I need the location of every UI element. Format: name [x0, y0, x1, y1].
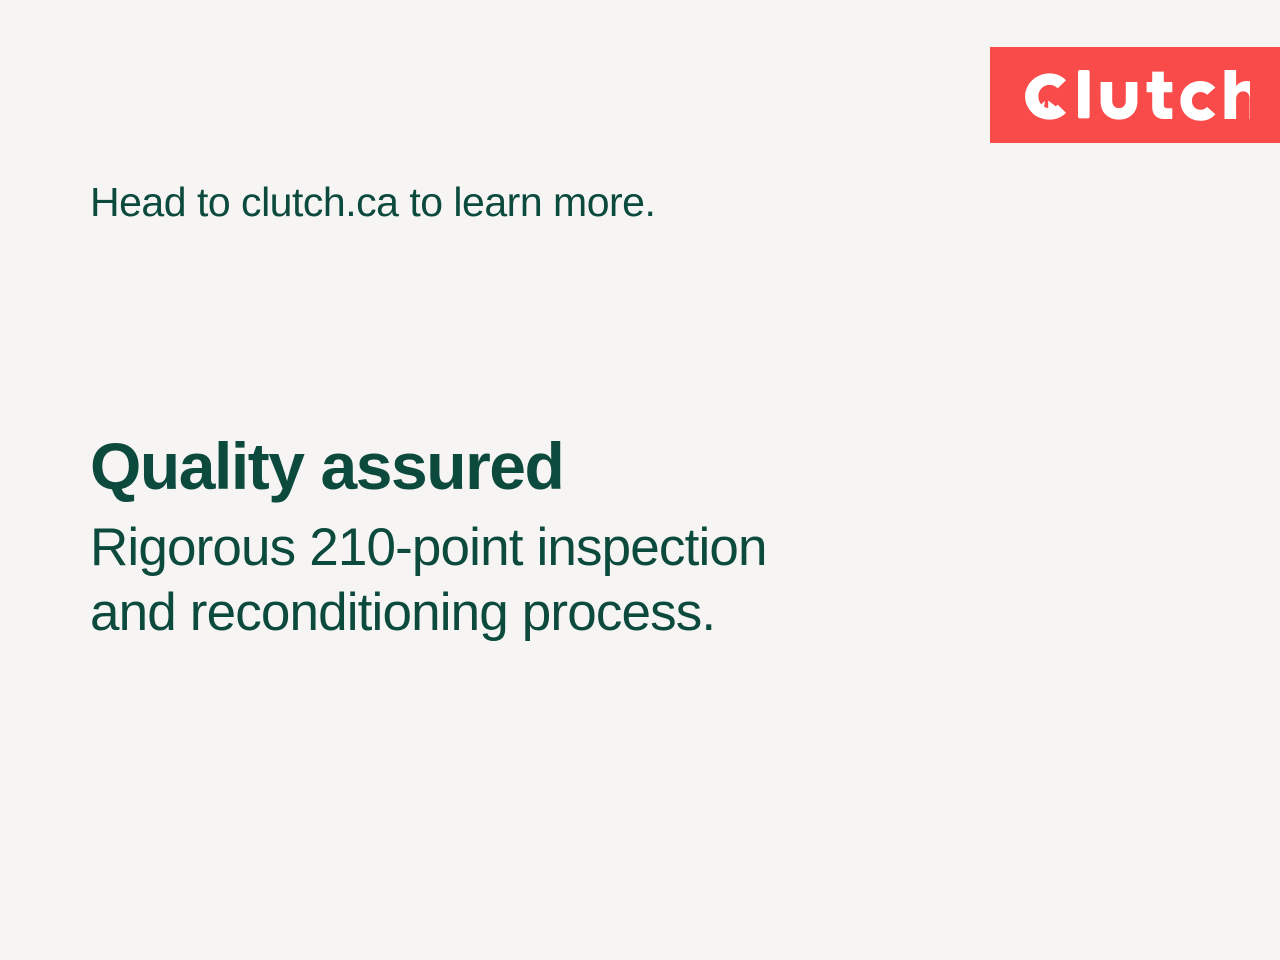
subhead-line-2: and reconditioning process. — [90, 581, 1050, 646]
promo-slide: Head to clutch.ca to learn more. Quality… — [0, 0, 1280, 960]
subhead-line-1: Rigorous 210-point inspection — [90, 516, 1050, 581]
page-title: Quality assured — [90, 432, 1050, 502]
kicker-text: Head to clutch.ca to learn more. — [90, 180, 655, 226]
content-block: Head to clutch.ca to learn more. Quality… — [90, 0, 1090, 960]
subhead: Rigorous 210-point inspection and recond… — [90, 516, 1050, 645]
headline-group: Quality assured Rigorous 210-point inspe… — [90, 432, 1050, 645]
